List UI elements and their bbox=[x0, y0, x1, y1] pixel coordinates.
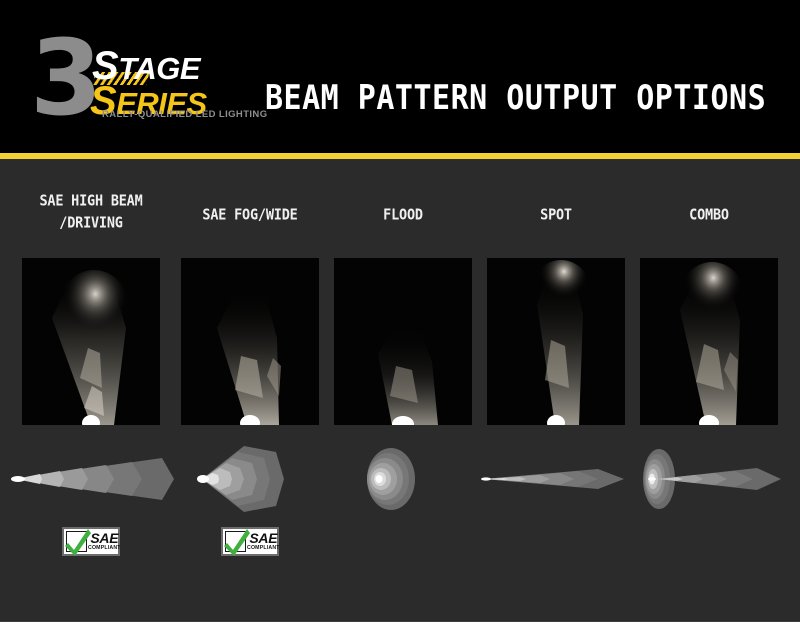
beam-spread-diagram bbox=[2, 444, 180, 514]
column-spot: SPOT bbox=[478, 159, 634, 599]
beam-spread-diagram bbox=[172, 444, 328, 514]
column-label: FLOOD bbox=[325, 205, 481, 227]
sae-badge-sub-label: COMPLIANT bbox=[88, 546, 121, 551]
column-label: SPOT bbox=[478, 205, 634, 227]
logo-numeral: 3 bbox=[30, 26, 96, 130]
column-combo: COMBO bbox=[631, 159, 787, 599]
page-title: BEAM PATTERN OUTPUT OPTIONS bbox=[265, 79, 766, 118]
column-flood: FLOOD bbox=[325, 159, 481, 599]
sae-badge-main-label: SAE bbox=[88, 531, 121, 545]
sae-badge-main-label: SAE bbox=[247, 531, 280, 545]
check-icon bbox=[66, 531, 87, 552]
column-sae-high-beam-driving: SAE HIGH BEAM /DRIVING bbox=[2, 159, 180, 599]
beam-spread-diagram bbox=[325, 444, 481, 514]
sae-compliant-badge: SAE COMPLIANT bbox=[62, 527, 120, 556]
beam-pattern-infographic: 3 STAGE SERIES RALLY-QUALIFIED LED LIGHT… bbox=[0, 0, 800, 622]
beam-spread-diagram bbox=[631, 444, 787, 514]
logo-tagline: RALLY-QUALIFIED LED LIGHTING bbox=[102, 109, 268, 120]
beam-photo bbox=[487, 258, 625, 425]
beam-photo bbox=[22, 258, 160, 425]
column-label: COMBO bbox=[631, 205, 787, 227]
column-label: SAE FOG/WIDE bbox=[172, 205, 328, 227]
sae-badge-sub-label: COMPLIANT bbox=[247, 546, 280, 551]
stage-series-logo: 3 STAGE SERIES RALLY-QUALIFIED LED LIGHT… bbox=[30, 32, 245, 124]
beam-photo bbox=[334, 258, 472, 425]
beam-spread-diagram bbox=[478, 444, 634, 514]
header-banner: 3 STAGE SERIES RALLY-QUALIFIED LED LIGHT… bbox=[0, 0, 800, 153]
beam-photo bbox=[181, 258, 319, 425]
column-sae-fog-wide: SAE FOG/WIDE bbox=[172, 159, 328, 599]
check-icon bbox=[225, 531, 246, 552]
column-label: SAE HIGH BEAM /DRIVING bbox=[2, 191, 180, 234]
sae-compliant-badge: SAE COMPLIANT bbox=[221, 527, 279, 556]
beam-photo bbox=[640, 258, 778, 425]
